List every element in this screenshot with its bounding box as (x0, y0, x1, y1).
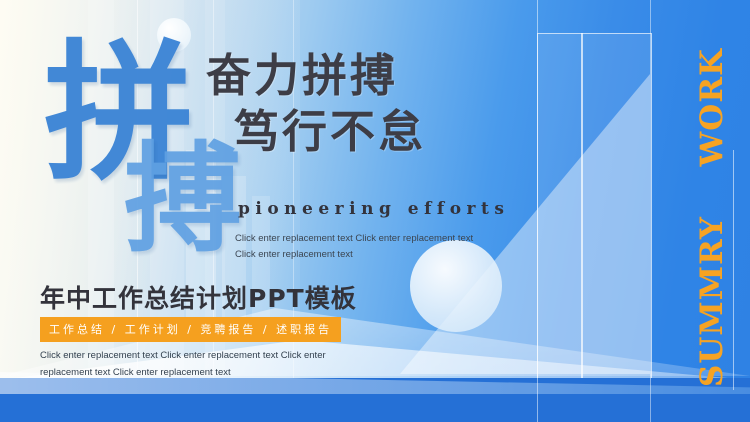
footer-paragraph: Click enter replacement text Click enter… (40, 348, 370, 381)
tag-bar: 工作总结 / 工作计划 / 竞聘报告 / 述职报告 (40, 317, 341, 342)
pioneering-label: pioneering efforts (238, 199, 509, 219)
vertical-title-group: WORK SUMMRY (696, 36, 732, 396)
vertical-word-summry: SUMMRY (694, 216, 730, 387)
presentation-slide: 拼 搏 奋力拼搏 笃行不怠 pioneering efforts Click e… (0, 0, 750, 422)
main-title: 年中工作总结计划PPT模板 (40, 279, 357, 315)
vertical-divider-line (733, 150, 734, 390)
decor-diagonal-wedge (400, 74, 650, 374)
headline: 奋力拼搏 笃行不怠 (206, 48, 426, 161)
pioneering-paragraph: Click enter replacement text Click enter… (235, 231, 485, 262)
headline-line-2: 笃行不怠 (206, 104, 426, 160)
vertical-word-work: WORK (694, 48, 730, 167)
right-column-line-1 (537, 0, 538, 422)
headline-line-1: 奋力拼搏 (206, 49, 398, 102)
right-column-line-2 (650, 0, 651, 422)
